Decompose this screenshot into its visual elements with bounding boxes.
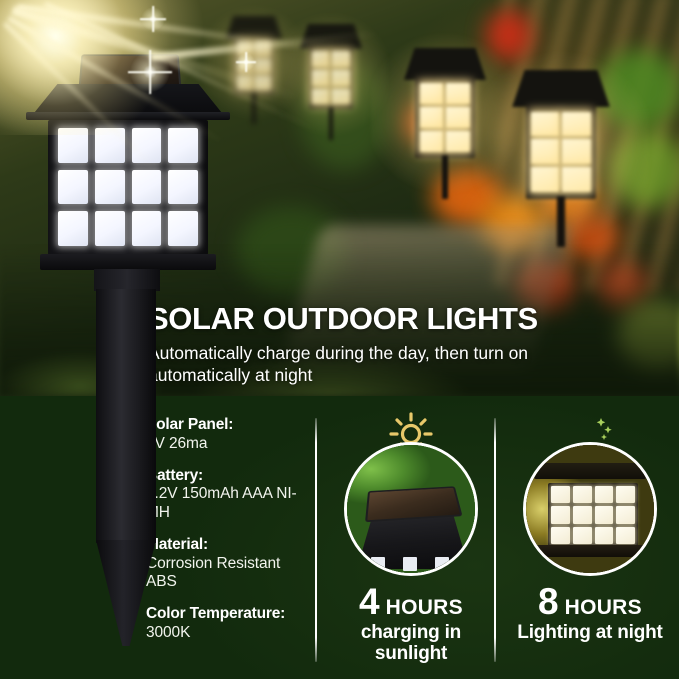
page-title: SOLAR OUTDOOR LIGHTS [148,303,578,335]
spec-label: Solar Panel: [146,416,311,435]
lantern-pane [616,486,635,503]
lantern-pane [255,59,270,73]
lantern-pane [531,167,559,192]
lantern-pane [168,211,198,246]
feature-charging: 4 HOURS charging in sunlight [327,410,495,665]
spec-list: Solar Panel: 2V 26ma Battery: 1.2V 150mA… [146,416,311,643]
lantern-pane [132,211,162,246]
spec-value: 3000K [146,624,311,643]
lantern-pane [551,486,570,503]
lantern-post [557,196,565,247]
spec-label: Color Temperature: [146,605,311,624]
lantern-body [415,77,474,158]
lantern-pane [531,139,559,164]
lantern-pane [371,557,385,571]
lantern-pane [562,139,590,164]
lantern-pane [616,527,635,544]
lantern-pane [573,486,592,503]
lantern-body [526,104,597,199]
solar-cell-surface [365,486,463,522]
lantern-pane [562,112,590,137]
sparkle-icon [236,52,256,72]
product-marketing-image: SOLAR OUTDOOR LIGHTS Automatically charg… [0,0,679,679]
lantern-base [40,254,216,270]
background-lantern [404,48,486,193]
spec-label: Material: [146,536,311,555]
flower-blob [486,10,532,60]
lantern-pane [420,131,443,152]
hours-unit: HOURS [565,596,642,620]
lantern-post [442,155,449,199]
spec-label: Battery: [146,467,311,486]
feature-lighting: 8 HOURS Lighting at night [506,410,674,643]
lantern-glow-closeup-photo [523,442,657,576]
hours-unit: HOURS [386,596,463,620]
lantern-pane [58,211,88,246]
lantern-pane [332,89,349,105]
lantern-glass [312,51,349,104]
lantern-pane [58,170,88,205]
lantern-neck [94,269,160,291]
lantern-glass [420,83,470,151]
spec-value: Corrosion Resistant ABS [146,555,311,593]
spec-item-material: Material: Corrosion Resistant ABS [146,536,311,592]
lantern-pane [446,107,469,128]
lantern-pane [531,112,559,137]
lantern-stake-shaft [96,289,156,543]
spec-item-battery: Battery: 1.2V 150mAh AAA NI-MH [146,467,311,523]
lantern-pane [403,557,417,571]
spec-value: 1.2V 150mAh AAA NI-MH [146,485,311,523]
lantern-pane [446,131,469,152]
feature-caption: Lighting at night [506,622,674,643]
lantern-pane [551,527,570,544]
foliage-blob [610,130,679,208]
spec-value: 2V 26ma [146,435,311,454]
lighting-hours: 8 HOURS [506,584,674,620]
lantern-pane [573,527,592,544]
lantern-roof [534,463,646,479]
lantern-glass [531,112,590,192]
lantern-pane [446,83,469,104]
lantern-pane [95,211,125,246]
lantern-pane [132,170,162,205]
lantern-pane [616,506,635,523]
hero-text-block: SOLAR OUTDOOR LIGHTS Automatically charg… [148,303,578,386]
lantern-pane [312,51,329,67]
hours-number: 8 [538,584,558,619]
lantern-pane [95,170,125,205]
lantern-pane [312,89,329,105]
spec-item-color-temperature: Color Temperature: 3000K [146,605,311,643]
lantern-glass-grid [548,483,638,547]
lantern-post [329,107,334,141]
charging-hours: 4 HOURS [327,584,495,620]
lantern-pane [595,527,614,544]
sparkle-icon [128,50,172,94]
sparkle-icon [140,6,166,32]
lantern-pane [420,107,443,128]
lantern-pane [551,506,570,523]
lantern-pane [312,70,329,86]
lantern-pane [573,506,592,523]
hours-number: 4 [359,584,379,619]
spec-item-solar-panel: Solar Panel: 2V 26ma [146,416,311,454]
lantern-pane [168,170,198,205]
lantern-pane [435,557,449,571]
lantern-pane [332,70,349,86]
background-lantern [512,70,610,240]
solar-panel-closeup-photo [344,442,478,576]
lantern-roof [404,48,486,80]
lantern-roof [512,70,610,107]
lantern-pane [595,506,614,523]
feature-caption: charging in sunlight [327,622,495,665]
page-subtitle: Automatically charge during the day, the… [148,342,538,386]
lantern-pane [562,167,590,192]
lantern-pane [420,83,443,104]
vertical-divider [315,418,317,662]
lantern-base [536,545,644,557]
lantern-pane [595,486,614,503]
